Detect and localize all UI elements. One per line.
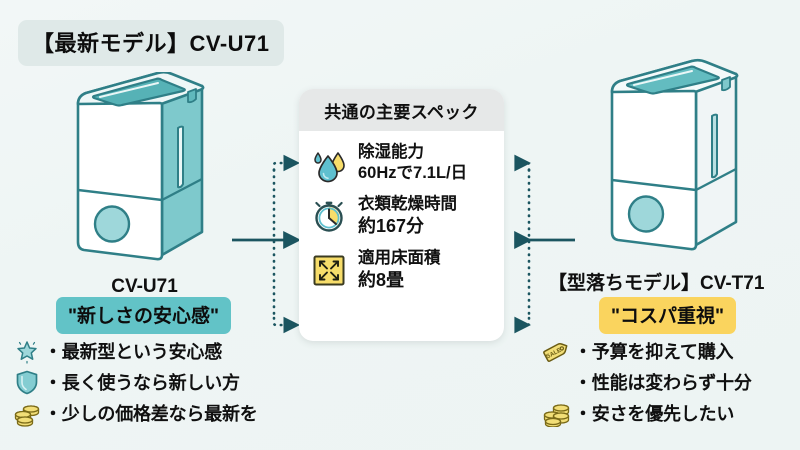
right-tagline-badge: "コスパ重視" [599,297,736,334]
dehumidifier-teal-icon [62,72,227,267]
spec-title: 衣類乾燥時間 [358,194,457,215]
spec-text-drying-time: 衣類乾燥時間 約167分 [358,193,457,238]
water-drops-icon [309,144,349,184]
sparkle-star-icon [10,337,44,365]
page-title-badge: 【最新モデル】CV-U71 [18,20,284,66]
shield-icon [10,368,44,396]
stopwatch-icon [309,196,349,236]
right-bullet-item-1: SALE ・予算を抑えて購入 [540,335,752,366]
spec-text-floor-area: 適用床面積 約8畳 [358,247,441,292]
spec-title: 適用床面積 [358,248,441,269]
spec-card-header: 共通の主要スペック [299,89,504,131]
spec-value: 約8畳 [358,269,441,292]
coins-icon [540,399,574,427]
right-bullet-item-3: ・安さを優先したい [540,397,752,428]
spec-value: 約167分 [358,215,457,238]
bullet-label: ・予算を抑えて購入 [574,338,733,364]
bullet-label: ・少しの価格差なら最新を [44,400,258,426]
bullet-label: ・最新型という安心感 [44,338,222,364]
left-device-illustration: CV-U71 [62,72,227,298]
spec-title: 除湿能力 [358,142,467,163]
right-device-heading: 【型落ちモデル】CV-T71 [548,268,764,295]
left-bullet-item-1: ・最新型という安心感 [10,335,258,366]
common-spec-card: 共通の主要スペック 除湿能力 60Hzで7.1L/日 [299,89,504,341]
spec-row-floor-area: 適用床面積 約8畳 [309,247,504,292]
right-device-illustration [596,58,761,263]
spec-text-dehumidification: 除湿能力 60Hzで7.1L/日 [358,141,467,184]
left-bullet-list: ・最新型という安心感 ・長く使うなら新しい方 [10,335,258,428]
floor-area-icon [309,250,349,290]
right-bullet-list: SALE ・予算を抑えて購入 ・性能は変わらず十分 [540,335,752,428]
left-tagline-badge: "新しさの安心感" [56,297,231,334]
left-bullet-item-2: ・長く使うなら新しい方 [10,366,258,397]
bullet-label: ・性能は変わらず十分 [574,369,752,395]
sale-tag-icon: SALE [540,337,574,365]
spec-value: 60Hzで7.1L/日 [358,163,467,184]
bullet-label: ・安さを優先したい [574,400,734,426]
spec-list: 除湿能力 60Hzで7.1L/日 衣類乾燥時間 [299,131,504,292]
dehumidifier-white-icon [596,58,761,258]
bullet-label: ・長く使うなら新しい方 [44,369,240,395]
coins-icon [10,399,44,427]
spec-row-drying-time: 衣類乾燥時間 約167分 [309,193,504,238]
spec-row-dehumidification: 除湿能力 60Hzで7.1L/日 [309,141,504,184]
right-bullet-item-2: ・性能は変わらず十分 [540,366,752,397]
left-device-label: CV-U71 [62,276,227,298]
left-bullet-item-3: ・少しの価格差なら最新を [10,397,258,428]
